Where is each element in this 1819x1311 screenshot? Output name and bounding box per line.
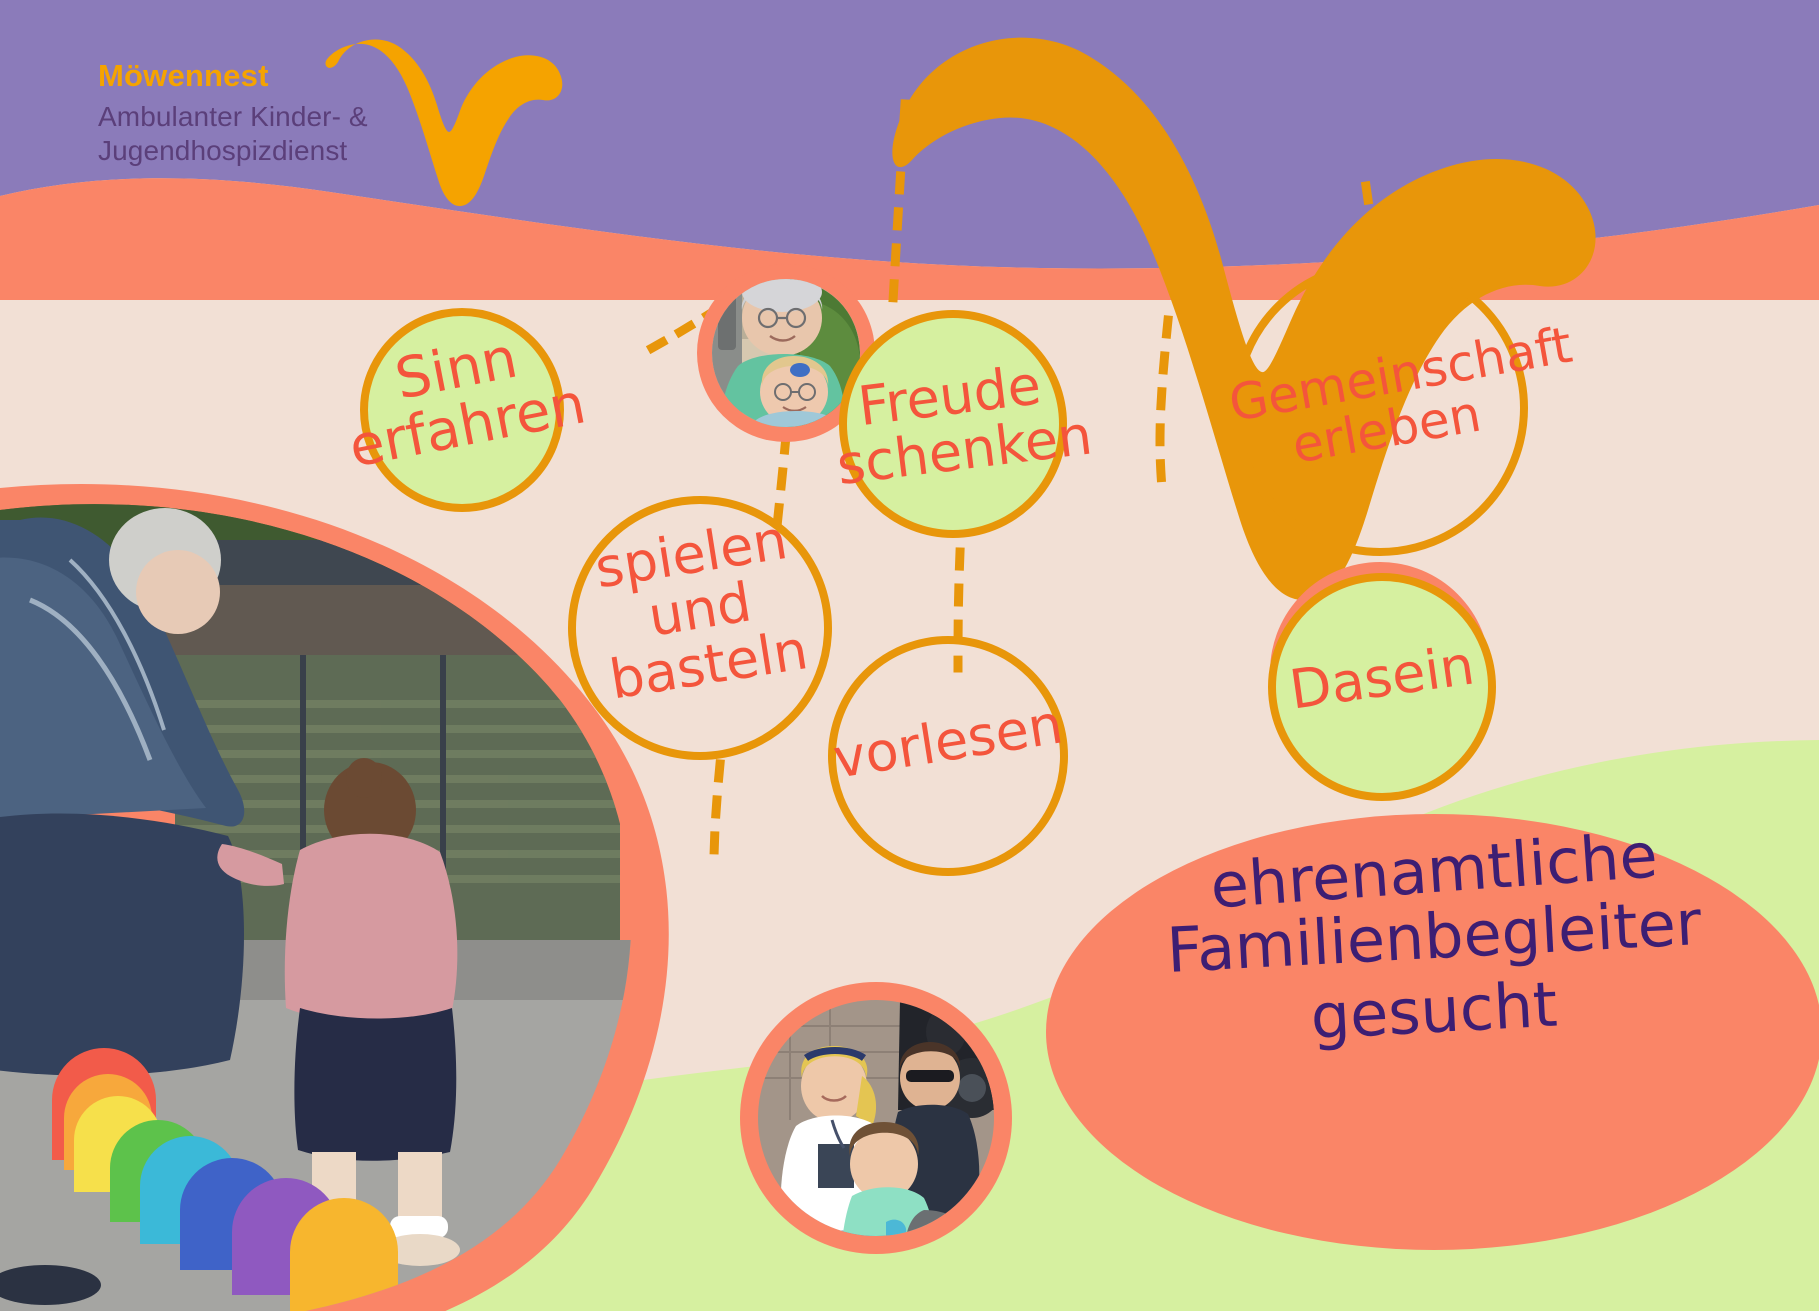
bubble-freude-schenken — [843, 314, 1063, 534]
background-shapes — [0, 0, 1819, 1311]
logo-subtitle-line-2: Jugendhospizdienst — [98, 137, 368, 165]
bubble-sinn-erfahren — [364, 312, 560, 508]
bubble-dasein — [1272, 577, 1492, 797]
call-to-action-ellipse — [1046, 814, 1819, 1250]
logo-title: Möwennest — [98, 60, 368, 91]
logo-subtitle-line-1: Ambulanter Kinder- & — [98, 103, 368, 131]
poster-canvas: Möwennest Ambulanter Kinder- & Jugendhos… — [0, 0, 1819, 1311]
logo-block: Möwennest Ambulanter Kinder- & Jugendhos… — [98, 60, 368, 171]
